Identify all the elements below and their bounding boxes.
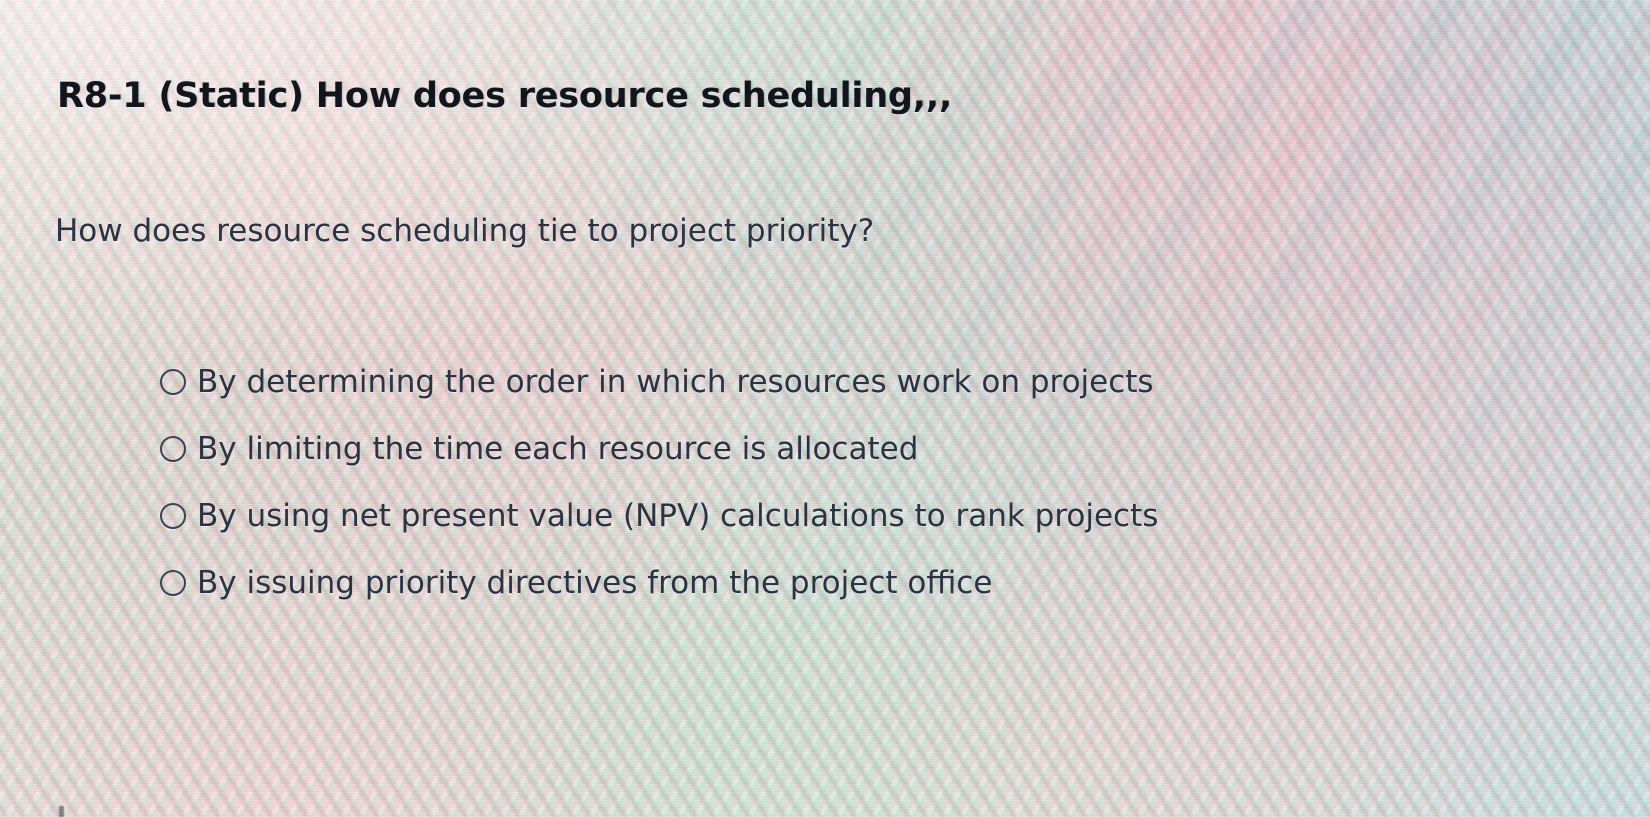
radio-unchecked-icon[interactable] <box>160 369 186 395</box>
answer-option-label: By issuing priority directives from the … <box>197 565 992 601</box>
answer-option-0[interactable]: By determining the order in which resour… <box>160 348 1158 415</box>
radio-unchecked-icon[interactable] <box>160 570 186 596</box>
answer-option-2[interactable]: By using net present value (NPV) calcula… <box>160 482 1158 549</box>
answer-option-1[interactable]: By limiting the time each resource is al… <box>160 415 1158 482</box>
answer-option-label: By using net present value (NPV) calcula… <box>197 498 1158 534</box>
radio-unchecked-icon[interactable] <box>160 436 186 462</box>
question-prompt: How does resource scheduling tie to proj… <box>55 213 874 249</box>
radio-unchecked-icon[interactable] <box>160 503 186 529</box>
page-title: R8-1 (Static) How does resource scheduli… <box>57 76 952 116</box>
answer-option-3[interactable]: By issuing priority directives from the … <box>160 549 1158 616</box>
photographed-screen: R8-1 (Static) How does resource scheduli… <box>0 0 1650 817</box>
question-content: R8-1 (Static) How does resource scheduli… <box>0 0 1650 817</box>
photo-dust-speck <box>59 806 64 817</box>
answer-option-label: By limiting the time each resource is al… <box>197 431 918 467</box>
answer-options-list: By determining the order in which resour… <box>160 348 1158 616</box>
answer-option-label: By determining the order in which resour… <box>197 364 1154 400</box>
